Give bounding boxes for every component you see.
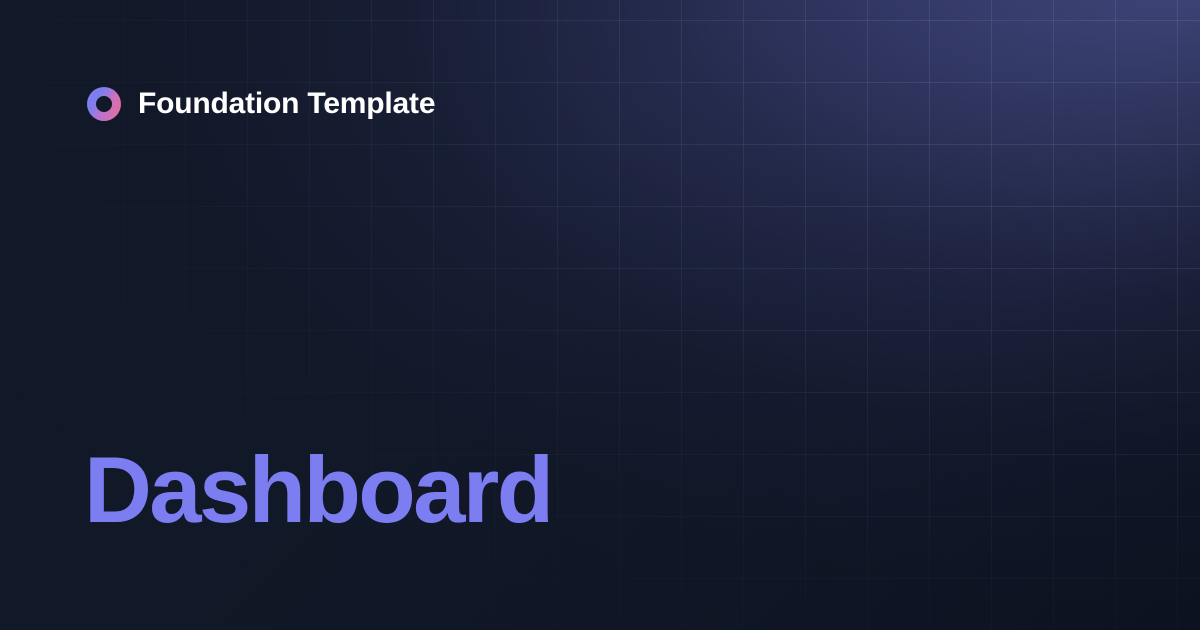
brand-name-label: Foundation Template (138, 86, 435, 122)
og-preview-card: Foundation Template Dashboard (0, 0, 1200, 630)
ring-logo-icon (86, 86, 122, 122)
brand-lockup: Foundation Template (86, 86, 435, 122)
page-title: Dashboard (84, 442, 552, 538)
